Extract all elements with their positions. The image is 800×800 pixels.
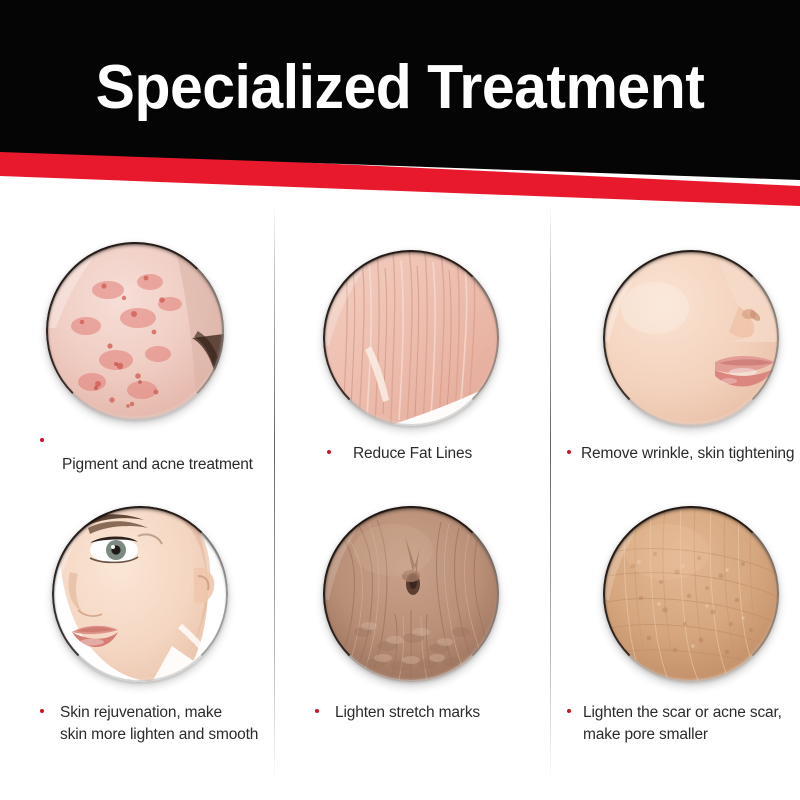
smooth-face-profile-photo [603,250,779,426]
treatment-grid: Pigment and acne treatment [0,196,800,800]
bullet-icon [315,709,319,713]
page-header: Specialized Treatment [0,0,800,210]
caption-wrinkle-tightening: Remove wrinkle, skin tightening [567,443,800,465]
caption-fat-lines: Reduce Fat Lines [327,443,547,465]
page-title: Specialized Treatment [20,52,780,123]
treatment-card-fat-lines[interactable]: Reduce Fat Lines [275,196,550,496]
abdomen-stretch-marks-photo [323,506,499,682]
tan-skin-pores-scars-photo [603,506,779,682]
treatment-card-skin-rejuvenation[interactable]: Skin rejuvenation, make skin more lighte… [0,496,274,800]
bullet-icon [40,709,44,713]
bullet-icon [567,709,571,713]
acne-cheek-closeup-photo [46,242,224,420]
fat-lines-skin-closeup-photo [323,250,499,426]
bullet-icon [327,450,331,454]
treatment-card-wrinkle-tightening[interactable]: Remove wrinkle, skin tightening [551,196,800,496]
treatment-card-scar-pores[interactable]: Lighten the scar or acne scar, make pore… [551,496,800,800]
woman-face-portrait-photo [52,506,228,682]
treatment-card-pigment-acne[interactable]: Pigment and acne treatment [0,196,274,496]
caption-scar-pores: Lighten the scar or acne scar, make pore… [567,702,800,746]
treatment-card-stretch-marks[interactable]: Lighten stretch marks [275,496,550,800]
caption-stretch-marks: Lighten stretch marks [315,702,545,724]
caption-pigment-acne: Pigment and acne treatment [40,438,270,476]
bullet-icon [40,438,44,442]
caption-skin-rejuvenation: Skin rejuvenation, make skin more lighte… [40,702,270,746]
bullet-icon [567,450,571,454]
